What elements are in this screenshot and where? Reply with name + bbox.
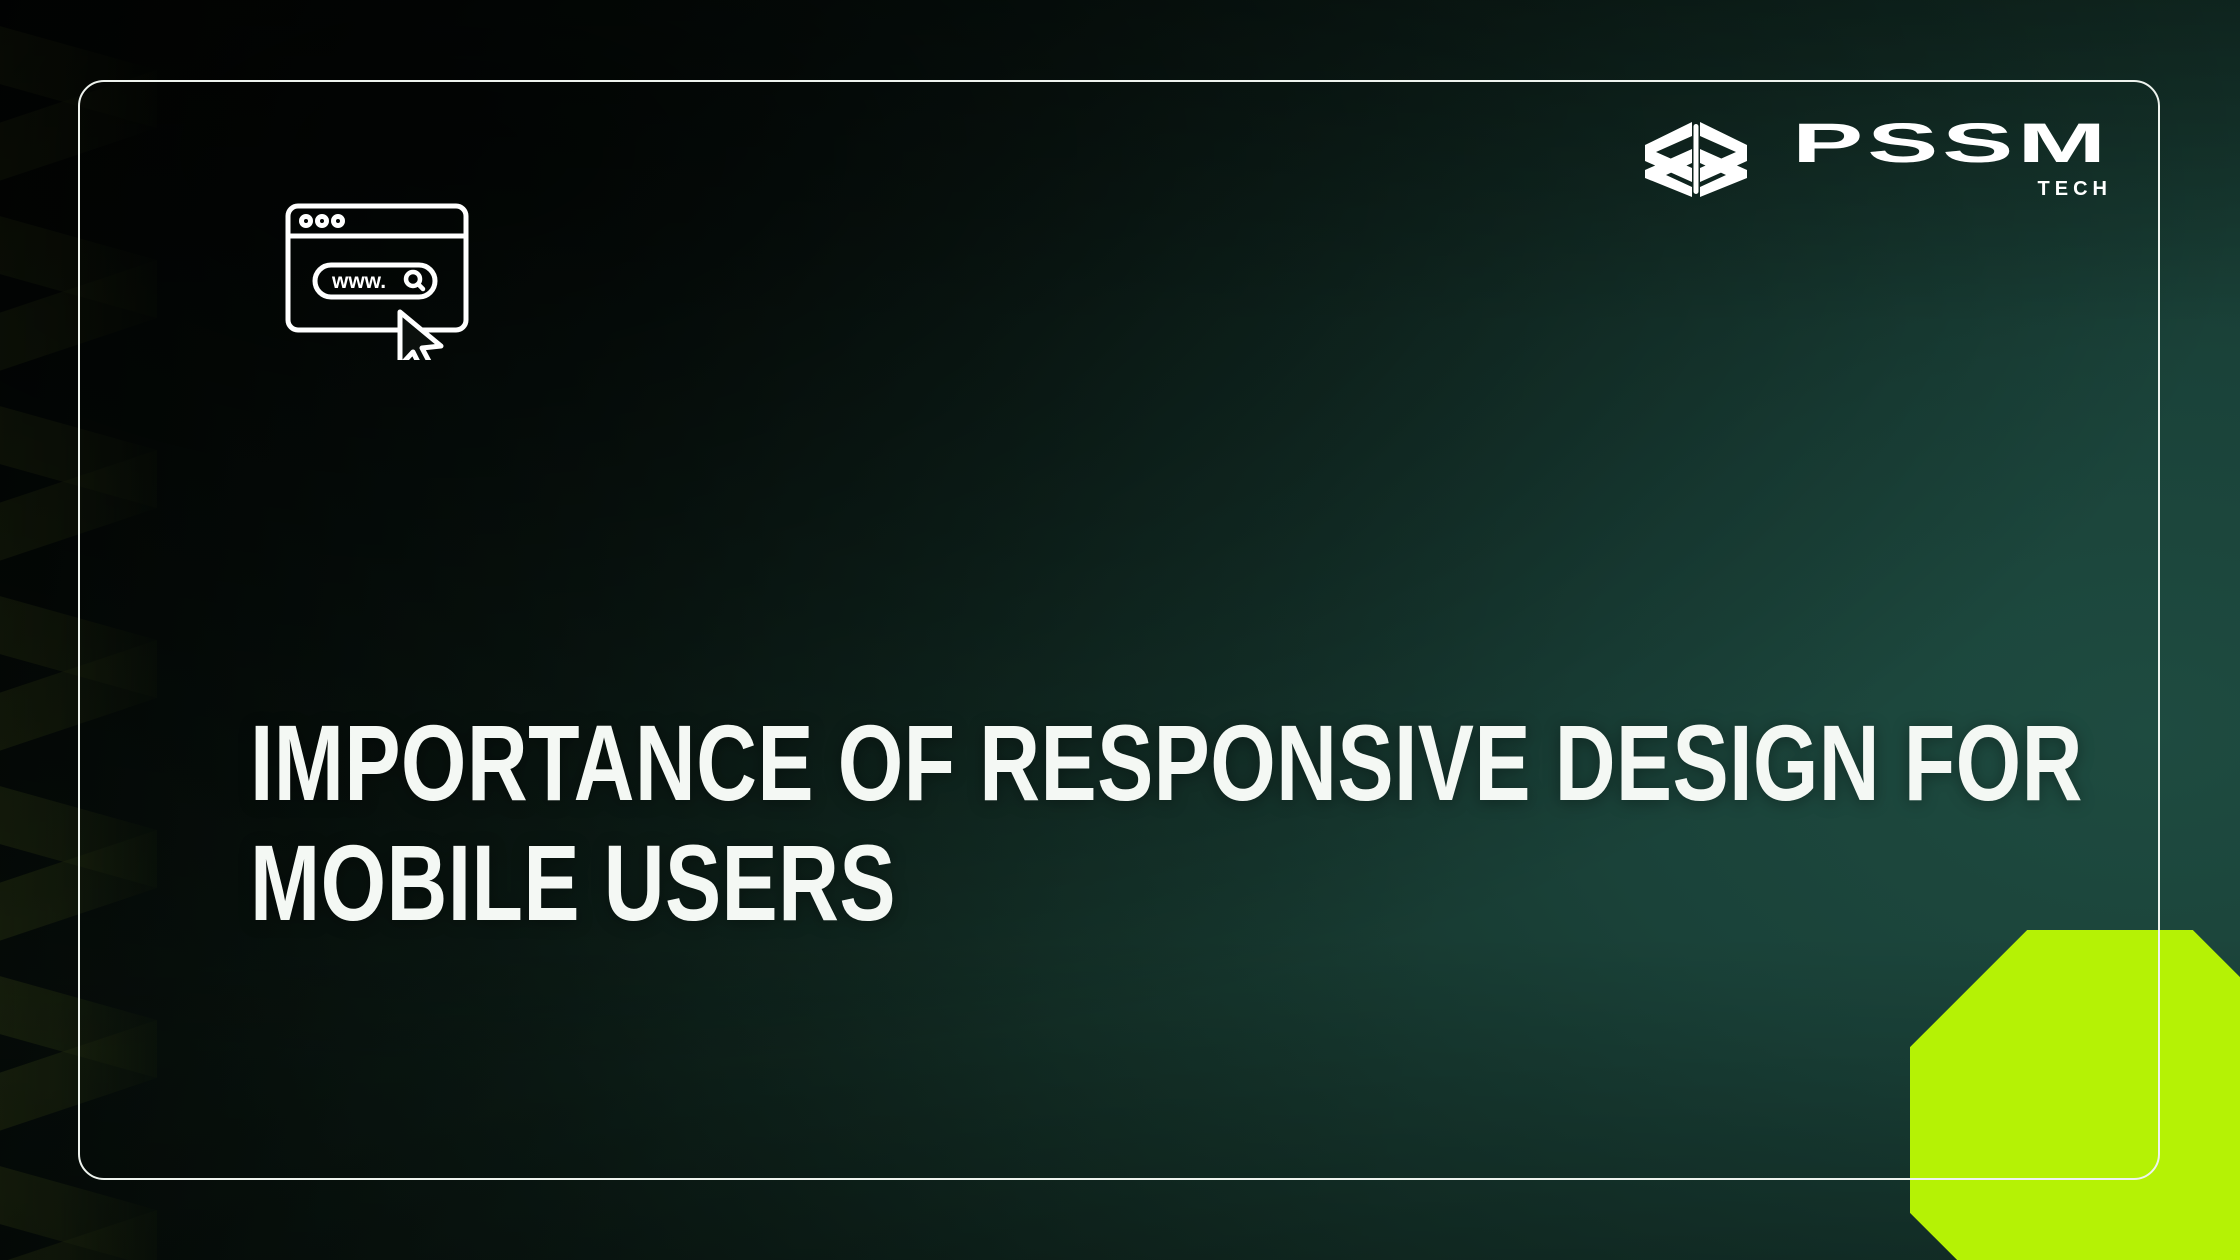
brand-logo: PSSM TECH	[1642, 118, 2112, 200]
pssm-chevron-mark-icon	[1642, 119, 1750, 199]
browser-frame	[288, 206, 466, 330]
slide-canvas: www.	[0, 0, 2240, 1260]
browser-address-text: www.	[331, 270, 386, 293]
brand-name-pssm: PSSM	[1792, 118, 2112, 174]
arrow-pointer-icon	[400, 312, 441, 360]
browser-window-illustration: www.	[282, 200, 472, 360]
headline-line-1: IMPORTANCE OF RESPONSIVE DESIGN FOR	[250, 708, 1529, 818]
search-icon-handle	[418, 284, 423, 289]
headline-line-2: MOBILE USERS	[250, 828, 1529, 938]
brand-wordmark: PSSM TECH	[1792, 118, 2112, 200]
brand-sub-tech: TECH	[1982, 176, 2112, 200]
brand-name-text: PSSM	[1792, 118, 2110, 174]
browser-dot-1	[302, 217, 311, 226]
browser-dot-2	[318, 217, 327, 226]
page-title: IMPORTANCE OF RESPONSIVE DESIGN FOR MOBI…	[250, 708, 1890, 948]
brand-sub-text: TECH	[2038, 178, 2112, 200]
browser-dot-3	[334, 217, 343, 226]
